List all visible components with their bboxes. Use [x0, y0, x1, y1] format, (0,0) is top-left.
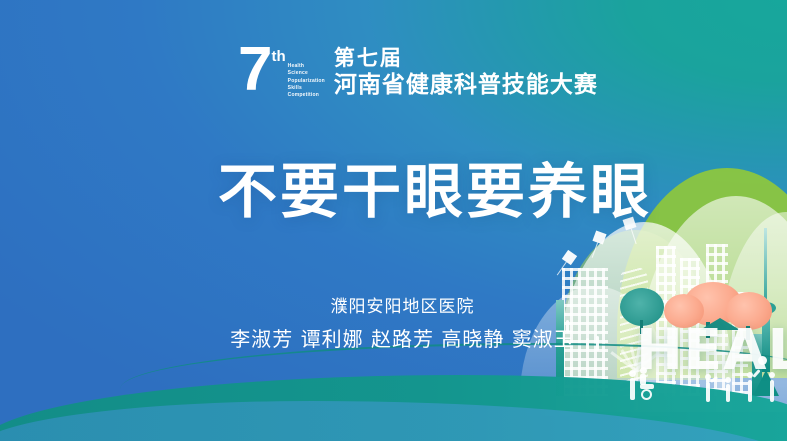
person-player-3-arm	[752, 369, 760, 378]
person-player-4-body	[770, 380, 774, 402]
bare-tree-branch-1	[634, 349, 650, 373]
person-player-3-body	[748, 380, 752, 402]
person-seated-head	[640, 367, 647, 374]
person-player-1-arm	[710, 376, 718, 383]
english-subtitle-block: Health Science Popularization Skills Com…	[288, 63, 325, 99]
event-title-chinese: 第七届 河南省健康科普技能大赛	[334, 47, 598, 98]
wheelchair-seat	[640, 384, 654, 389]
teal-wave-band	[0, 375, 787, 441]
english-line-4: Skills	[288, 85, 325, 92]
bare-tree-branch-2	[620, 349, 636, 373]
person-player-4-head	[769, 372, 775, 378]
english-line-5: Competition	[288, 92, 325, 99]
person-player-1-body	[706, 382, 710, 402]
ball-icon	[758, 356, 767, 365]
event-edition-label: 第七届	[334, 47, 598, 71]
bare-tree-trunk	[634, 364, 638, 410]
organization-name: 濮阳安阳地区医院	[18, 292, 787, 317]
english-line-2: Science	[288, 70, 325, 77]
english-line-3: Popularization	[288, 78, 325, 85]
credits-block: 濮阳安阳地区医院 李淑芳 谭利娜 赵路芳 高晓静 窦淑玉	[0, 292, 787, 352]
person-player-3-head	[747, 372, 753, 378]
person-player-2-head	[725, 377, 731, 383]
slide-title: 不要干眼要养眼	[218, 161, 652, 223]
english-line-1: Health	[288, 63, 325, 70]
ordinal-number: 7	[238, 46, 270, 94]
ordinal-suffix: th	[271, 48, 285, 65]
author-names: 李淑芳 谭利娜 赵路芳 高晓静 窦淑玉	[18, 323, 787, 352]
person-player-1-head	[705, 374, 711, 380]
person-standing-body	[630, 378, 635, 400]
bare-tree-branch-6	[610, 351, 636, 371]
presentation-slide: HEALTH 7 th Health Science	[0, 0, 787, 441]
kite-icon-3	[562, 250, 577, 265]
bare-tree-branch-5	[635, 351, 661, 371]
kite-icon-1	[592, 230, 606, 244]
ordinal-logo: 7 th Health Science Popularization Skill…	[238, 46, 325, 99]
person-seated-body	[640, 374, 646, 385]
event-name-label: 河南省健康科普技能大赛	[334, 73, 598, 98]
wheelchair-wheel	[641, 389, 652, 400]
event-logo-header: 7 th Health Science Popularization Skill…	[238, 46, 598, 99]
blue-wave-band	[0, 401, 787, 441]
person-player-2-body	[726, 384, 730, 402]
person-standing-head	[629, 370, 636, 377]
tv-tower-base	[753, 370, 779, 396]
